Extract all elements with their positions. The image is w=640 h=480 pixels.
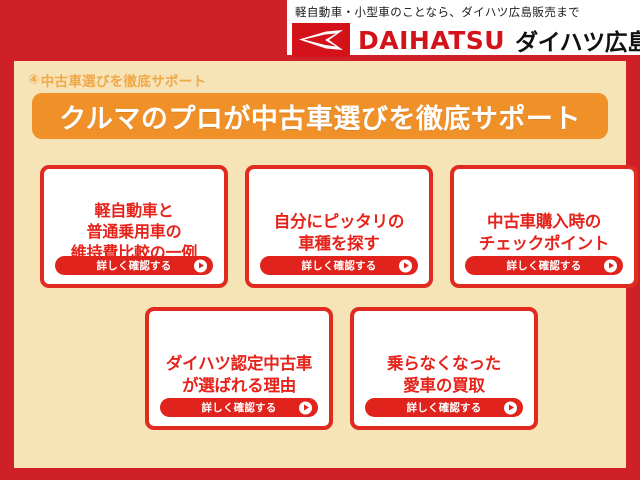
cards-row-top: 軽自動車と 普通乗用車の 維持費比較の一例 詳しく確認する 自分にピッタリの 車… [40, 165, 638, 288]
cta-button[interactable]: 詳しく確認する [465, 256, 623, 275]
card-maintenance-cost-comparison[interactable]: 軽自動車と 普通乗用車の 維持費比較の一例 詳しく確認する [40, 165, 228, 288]
site-header: 軽自動車・小型車のことなら、ダイハツ広島販売まで DAIHATSU ダイハツ広島… [284, 0, 640, 58]
section-banner: クルマのプロが中古車選びを徹底サポート [32, 93, 608, 139]
banner-headline: クルマのプロが中古車選びを徹底サポート [59, 97, 581, 136]
cta-button[interactable]: 詳しく確認する [365, 398, 523, 417]
card-purchase-checkpoints[interactable]: 中古車購入時の チェックポイント 詳しく確認する [450, 165, 638, 288]
card-car-buyback[interactable]: 乗らなくなった 愛車の買取 詳しく確認する [350, 307, 538, 430]
cta-button[interactable]: 詳しく確認する [160, 398, 318, 417]
cta-button[interactable]: 詳しく確認する [260, 256, 418, 275]
header-tagline: 軽自動車・小型車のことなら、ダイハツ広島販売まで [295, 5, 580, 19]
cta-label: 詳しく確認する [97, 258, 172, 273]
brand-name-jp: ダイハツ広島販売 [515, 23, 640, 57]
play-arrow-circle-icon [299, 401, 312, 414]
cta-label: 詳しく確認する [302, 258, 377, 273]
play-arrow-circle-icon [604, 259, 617, 272]
content-panel: ④中古車選びを徹底サポート クルマのプロが中古車選びを徹底サポート 軽自動車と … [14, 61, 626, 468]
brand-logo-row[interactable]: DAIHATSU ダイハツ広島販売 [287, 22, 640, 58]
brand-wordmark: DAIHATSU [358, 26, 505, 55]
cta-button[interactable]: 詳しく確認する [55, 256, 213, 275]
cta-label: 詳しく確認する [507, 258, 582, 273]
play-arrow-circle-icon [504, 401, 517, 414]
card-find-your-model[interactable]: 自分にピッタリの 車種を探す 詳しく確認する [245, 165, 433, 288]
cta-label: 詳しく確認する [407, 400, 482, 415]
daihatsu-d-logo-icon [292, 23, 350, 57]
section-label-text: 中古車選びを徹底サポート [41, 70, 207, 90]
section-label: ④中古車選びを徹底サポート [28, 70, 206, 90]
cards-row-bottom: ダイハツ認定中古車 が選ばれる理由 詳しく確認する 乗らなくなった 愛車の買取 … [145, 307, 538, 430]
card-certified-used-cars[interactable]: ダイハツ認定中古車 が選ばれる理由 詳しく確認する [145, 307, 333, 430]
play-arrow-circle-icon [399, 259, 412, 272]
cta-label: 詳しく確認する [202, 400, 277, 415]
play-arrow-circle-icon [194, 259, 207, 272]
page-root: 軽自動車・小型車のことなら、ダイハツ広島販売まで DAIHATSU ダイハツ広島… [0, 0, 640, 480]
section-number-badge-icon: ④ [28, 72, 40, 88]
